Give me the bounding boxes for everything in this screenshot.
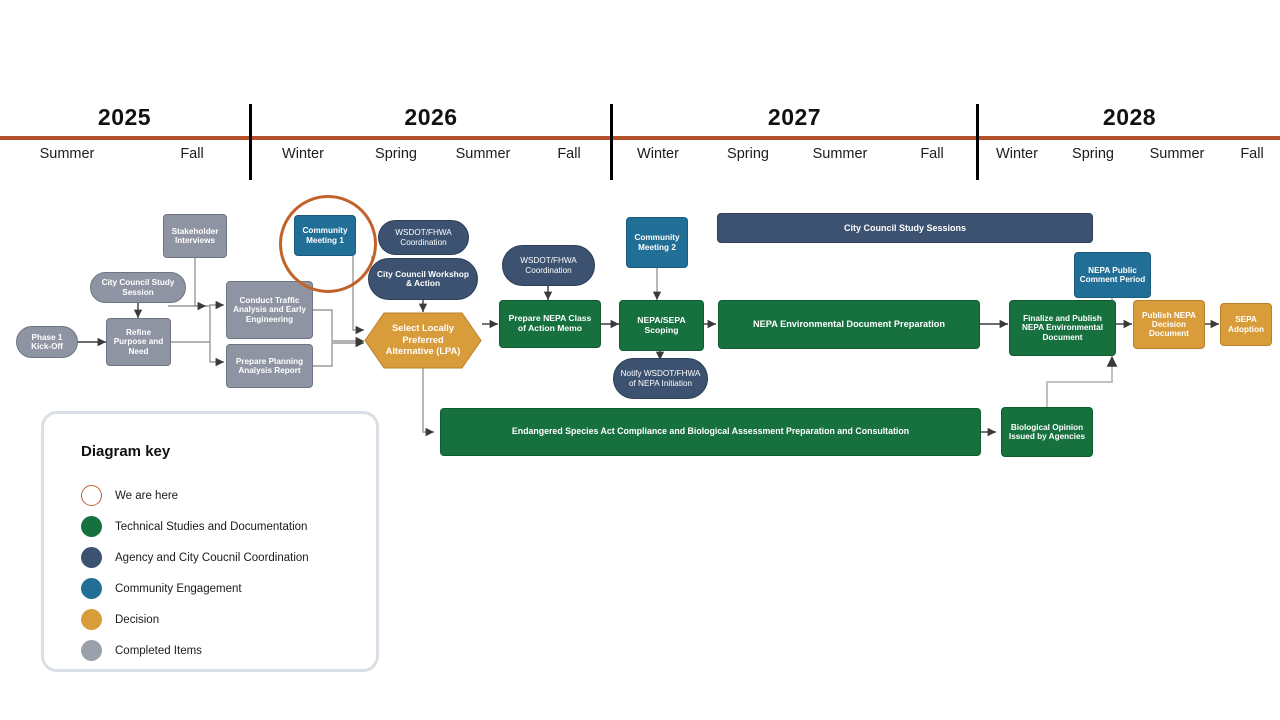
we-are-here-circle [279, 195, 377, 293]
legend-item-we-are-here: We are here [81, 485, 178, 506]
season-2025-summer: Summer [17, 146, 117, 162]
node-community-meeting-2[interactable]: Community Meeting 2 [626, 217, 688, 268]
node-nepa-public-comment-period[interactable]: NEPA Public Comment Period [1074, 252, 1151, 298]
legend-label-agency-coordination: Agency and City Coucnil Coordination [115, 552, 309, 564]
legend-swatch-technical-studies [81, 516, 102, 537]
legend-label-we-are-here: We are here [115, 490, 178, 502]
season-2026-summer: Summer [433, 146, 533, 162]
diagram-key-panel: Diagram key We are here Technical Studie… [41, 411, 379, 672]
node-refine-purpose-and-need[interactable]: Refine Purpose and Need [106, 318, 171, 366]
diagram-canvas: 2025 2026 2027 2028 Summer Fall Winter S… [0, 0, 1280, 720]
legend-swatch-completed [81, 640, 102, 661]
year-label-2028: 2028 [979, 104, 1280, 131]
legend-swatch-community-engagement [81, 578, 102, 599]
node-nepa-sepa-scoping[interactable]: NEPA/SEPA Scoping [619, 300, 704, 351]
season-2025-fall: Fall [142, 146, 242, 162]
legend-swatch-agency-coordination [81, 547, 102, 568]
timeline-rule [0, 136, 1280, 140]
legend-label-decision: Decision [115, 614, 159, 626]
node-sepa-adoption[interactable]: SEPA Adoption [1220, 303, 1272, 346]
node-finalize-and-publish-nepa-environmental-document[interactable]: Finalize and Publish NEPA Environmental … [1009, 300, 1116, 356]
year-label-2025: 2025 [0, 104, 249, 131]
legend-label-completed: Completed Items [115, 645, 202, 657]
year-label-2026: 2026 [252, 104, 610, 131]
legend-label-technical-studies: Technical Studies and Documentation [115, 521, 307, 533]
year-label-2027: 2027 [613, 104, 976, 131]
season-2026-spring: Spring [346, 146, 446, 162]
node-city-council-study-sessions[interactable]: City Council Study Sessions [717, 213, 1093, 243]
season-2027-winter: Winter [608, 146, 708, 162]
node-city-council-study-session[interactable]: City Council Study Session [90, 272, 186, 303]
node-biological-opinion-issued-by-agencies[interactable]: Biological Opinion Issued by Agencies [1001, 407, 1093, 457]
node-wsdot-fhwa-coordination-1[interactable]: WSDOT/FHWA Coordination [378, 220, 469, 255]
legend-item-decision: Decision [81, 609, 159, 630]
node-phase-1-kick-off[interactable]: Phase 1 Kick-Off [16, 326, 78, 358]
legend-swatch-we-are-here [81, 485, 102, 506]
node-conduct-traffic-analysis[interactable]: Conduct Traffic Analysis and Early Engin… [226, 281, 313, 339]
node-select-locally-preferred-alternative[interactable]: Select Locally Preferred Alternative (LP… [364, 312, 482, 369]
node-wsdot-fhwa-coordination-2[interactable]: WSDOT/FHWA Coordination [502, 245, 595, 286]
legend-item-agency-coordination: Agency and City Coucnil Coordination [81, 547, 309, 568]
legend-swatch-decision [81, 609, 102, 630]
node-label-lpa: Select Locally Preferred Alternative (LP… [364, 312, 482, 369]
timeline-header: 2025 2026 2027 2028 [0, 100, 1280, 180]
node-notify-wsdot-fhwa-nepa-initiation[interactable]: Notify WSDOT/FHWA of NEPA Initiation [613, 358, 708, 399]
season-2028-fall: Fall [1202, 146, 1280, 162]
node-prepare-planning-analysis-report[interactable]: Prepare Planning Analysis Report [226, 344, 313, 388]
legend-item-community-engagement: Community Engagement [81, 578, 242, 599]
node-stakeholder-interviews[interactable]: Stakeholder Interviews [163, 214, 227, 258]
node-prepare-nepa-class-of-action-memo[interactable]: Prepare NEPA Class of Action Memo [499, 300, 601, 348]
node-city-council-workshop-action[interactable]: City Council Workshop & Action [368, 258, 478, 300]
node-esa-compliance-and-biological-assessment[interactable]: Endangered Species Act Compliance and Bi… [440, 408, 981, 456]
node-nepa-environmental-document-preparation[interactable]: NEPA Environmental Document Preparation [718, 300, 980, 349]
legend-label-community-engagement: Community Engagement [115, 583, 242, 595]
legend-item-technical-studies: Technical Studies and Documentation [81, 516, 307, 537]
season-2027-spring: Spring [698, 146, 798, 162]
node-publish-nepa-decision-document[interactable]: Publish NEPA Decision Document [1133, 300, 1205, 349]
legend-item-completed: Completed Items [81, 640, 202, 661]
season-2027-summer: Summer [790, 146, 890, 162]
season-2026-fall: Fall [519, 146, 619, 162]
diagram-key-title: Diagram key [81, 443, 170, 460]
season-2026-winter: Winter [253, 146, 353, 162]
